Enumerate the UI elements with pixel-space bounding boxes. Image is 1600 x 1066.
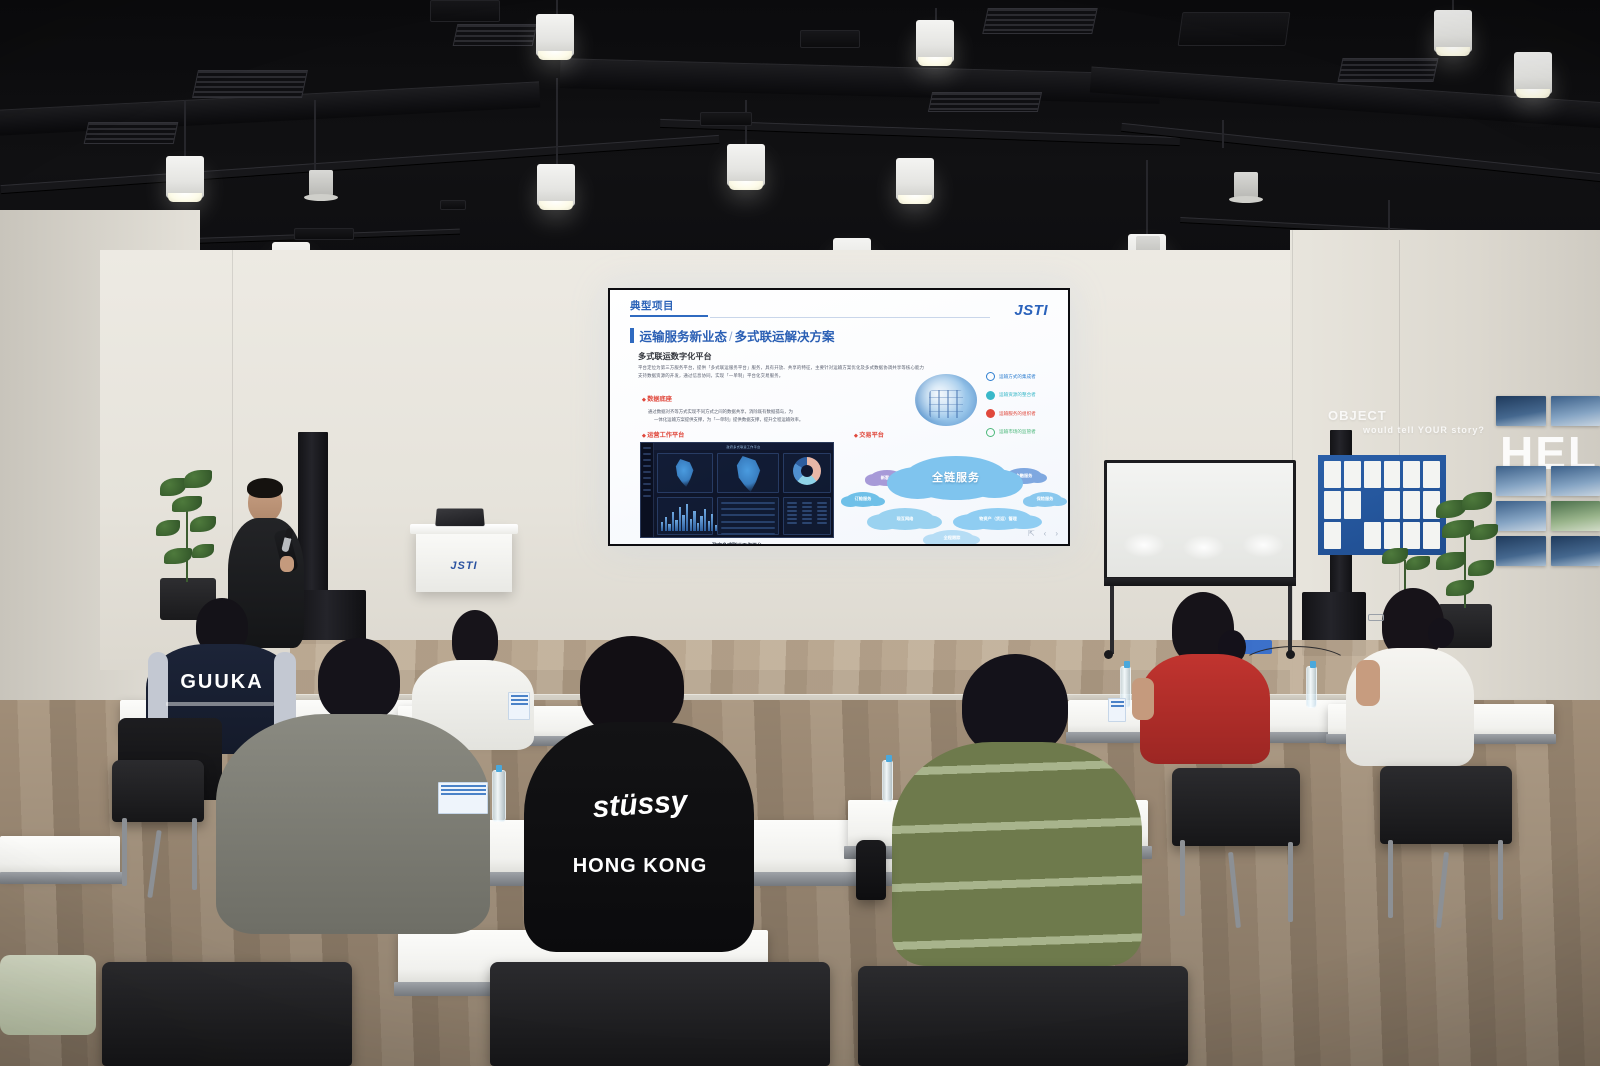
spot-lamp [309, 170, 333, 196]
audience-hair [580, 636, 684, 736]
chair-leg [1180, 840, 1185, 916]
led-presentation-screen[interactable]: 典型项目 JSTI 运输服务新业态/多式联运解决方案 多式联运数字化平台 平台定… [608, 288, 1070, 546]
badge-card [1108, 698, 1126, 722]
slide-navigation[interactable]: ⇱ ‹ › [1028, 529, 1058, 538]
audience-arm [1356, 660, 1380, 706]
chair[interactable] [490, 962, 830, 1066]
role-item: 运输方式的集成者 [986, 372, 1036, 381]
audience-hair [962, 654, 1068, 756]
ceiling-vent [928, 92, 1042, 112]
ceiling-vent [192, 70, 308, 98]
chair-leg [1498, 840, 1503, 920]
hair-bun [1428, 618, 1454, 648]
role-label: 运输资源的整合者 [999, 392, 1036, 398]
board-card [1423, 461, 1440, 488]
cloud-node: 现互网络 [876, 508, 934, 530]
cloud-node: 全程跟踪 [930, 530, 974, 544]
dashboard-title: 政府多式联运工作平台 [726, 445, 760, 449]
ceiling-truss [1121, 123, 1600, 186]
wall-photo [1496, 501, 1546, 531]
role-item: 运输服务的组织者 [986, 409, 1036, 418]
shirt-text-guuka: GUUKA [152, 672, 292, 692]
wall-photo [1551, 396, 1600, 426]
board-card [1384, 522, 1401, 549]
chair[interactable] [112, 760, 204, 822]
wall-photo [1496, 536, 1546, 566]
lamp-rod [556, 78, 558, 170]
slide-title-left: 运输服务新业态 [640, 330, 728, 344]
board-card [1324, 522, 1341, 549]
progress-rows [721, 502, 775, 538]
water-bottle [1306, 666, 1317, 708]
ceiling-speaker [294, 228, 354, 240]
share-icon[interactable]: ⇱ [1028, 529, 1035, 538]
section-heading-data-base: 数据底座 [642, 394, 672, 403]
ceiling-vent [1337, 58, 1438, 82]
chair[interactable] [858, 966, 1188, 1066]
slide-header: 典型项目 JSTI [630, 298, 1054, 318]
whiteboard-surface[interactable] [1107, 463, 1293, 577]
role-label: 运输市场的监管者 [999, 429, 1036, 435]
lamp-rod [1222, 120, 1224, 148]
shirt-subtext [166, 702, 274, 706]
chair-leg [192, 818, 197, 890]
slide: 典型项目 JSTI 运输服务新业态/多式联运解决方案 多式联运数字化平台 平台定… [610, 290, 1068, 544]
badge-card [508, 692, 530, 720]
board-card [1384, 491, 1401, 518]
board-card [1344, 461, 1361, 488]
whiteboard-wheel [1104, 650, 1113, 659]
board-card [1364, 461, 1381, 488]
audience-hair [318, 638, 400, 722]
board-card [1384, 461, 1401, 488]
cloud-node: 物资产（货运）管理 [964, 508, 1032, 530]
title-accent-bar [630, 328, 634, 343]
board-card [1364, 522, 1381, 549]
table-row-2-far-left [0, 836, 120, 876]
paragraph-line-1: 平台定位为第三方服务平台，提供「多式联运服务平台」服务，具有开放、共享的特征，主… [638, 364, 1056, 372]
lamp-rod [314, 100, 316, 170]
audience-torso [524, 722, 754, 952]
wall-photo [1551, 501, 1600, 531]
circle-icon [986, 372, 995, 381]
table-edge [0, 872, 124, 884]
water-bottle [492, 770, 506, 822]
circle-icon [986, 409, 995, 418]
whiteboard[interactable] [1104, 460, 1296, 580]
pendant-lamp [1514, 52, 1552, 94]
audience-torso [216, 714, 490, 934]
chair-leg [1388, 840, 1393, 918]
board-card [1344, 491, 1361, 518]
role-label: 运输服务的组织者 [999, 411, 1036, 417]
photo-gallery [1496, 396, 1600, 564]
pendant-lamp [536, 14, 574, 56]
subwoofer-left [294, 590, 366, 644]
header-rule [710, 317, 990, 318]
wall-photo [1496, 396, 1546, 426]
glasses-icon [1368, 614, 1384, 621]
board-card [1403, 461, 1420, 488]
slide-kicker: 典型项目 [630, 298, 1054, 313]
whiteboard-leg [1288, 586, 1292, 654]
ceiling-speaker [440, 200, 466, 210]
bulletin-board [1318, 455, 1446, 555]
dashboard-caption: 政府多式联运工作平台 [640, 542, 834, 544]
lamp-rod [1146, 160, 1148, 240]
pendant-lamp [896, 158, 934, 200]
next-arrow-icon[interactable]: › [1055, 529, 1058, 538]
dashboard-sidebar [641, 443, 654, 537]
audience-torso [892, 742, 1142, 966]
pendant-lamp [537, 164, 575, 206]
slide-title-row: 运输服务新业态/多式联运解决方案 [630, 326, 835, 345]
conference-room-scene: OBJECT would tell YOUR story? HEL [0, 0, 1600, 1066]
pendant-lamp [727, 144, 765, 186]
audience-torso [1140, 654, 1270, 764]
jsti-logo: JSTI [1014, 302, 1048, 319]
prev-arrow-icon[interactable]: ‹ [1044, 529, 1047, 538]
cloud-node: 保险服务 [1028, 492, 1062, 507]
kicker-underline [630, 315, 708, 317]
wall-photo [1551, 466, 1600, 496]
chair[interactable] [856, 840, 886, 900]
role-list: 运输方式的集成者 运输资源的整合者 运输服务的组织者 运输市场的监管者 [986, 372, 1036, 446]
globe-graphic [915, 374, 977, 426]
slide-title: 运输服务新业态/多式联运解决方案 [640, 326, 835, 345]
ceiling-vent [982, 8, 1098, 34]
slide-title-right: 多式联运解决方案 [735, 330, 835, 344]
role-item: 运输资源的整合者 [986, 391, 1036, 400]
cloud-diagram: 新客户 金融服务 订舱服务 保险服务 全链服务 现互网络 物资产（货运）管理 全… [846, 438, 1062, 544]
pendant-lamp [916, 20, 954, 62]
pendant-lamp [166, 156, 204, 198]
table-grid [787, 502, 827, 524]
chair[interactable] [1380, 766, 1512, 844]
chair-leg [122, 818, 127, 886]
board-card [1403, 491, 1420, 518]
ceiling-vent [84, 122, 179, 144]
whiteboard-marker-tray [1104, 578, 1296, 586]
chair-leg [1288, 842, 1293, 922]
dashboard-screenshot: 政府多式联运工作平台 [640, 442, 834, 538]
dashboard-titlebar: 政府多式联运工作平台 [654, 443, 833, 450]
presenter-hair [247, 478, 283, 498]
podium-logo: JSTI [416, 560, 512, 572]
cloud-node-main: 全链服务 [904, 456, 1008, 500]
water-bottle [882, 760, 893, 802]
audience-arm [1132, 678, 1154, 720]
ceiling-speaker [430, 0, 500, 22]
role-label: 运输方式的集成者 [999, 374, 1036, 380]
board-card [1324, 461, 1341, 488]
wall-text-story: would tell YOUR story? [1363, 425, 1485, 435]
bar-chart [661, 503, 717, 531]
board-card [1423, 522, 1440, 549]
presenter-hand [280, 556, 294, 572]
chair-green[interactable] [0, 955, 96, 1035]
role-item: 运输市场的监管者 [986, 428, 1036, 437]
laptop[interactable] [435, 508, 485, 526]
shirt-text-hongkong: HONG KONG [536, 856, 744, 876]
ceiling-speaker [700, 112, 752, 126]
board-card [1403, 522, 1420, 549]
ceiling-duct [560, 58, 1161, 104]
whiteboard-leg [1110, 586, 1114, 654]
ceiling-speaker [1178, 12, 1291, 46]
ceiling-vent [453, 24, 538, 46]
board-card [1324, 491, 1341, 518]
spot-lamp [1234, 172, 1258, 198]
circle-icon [986, 391, 995, 400]
plant-stem [186, 500, 188, 582]
lamp-rod [184, 100, 186, 158]
badge-card [438, 782, 488, 814]
wall-photo [1551, 536, 1600, 566]
wall-photo [1496, 466, 1546, 496]
section-heading-ops-platform: 运营工作平台 [642, 430, 684, 439]
cloud-node: 订舱服务 [846, 492, 880, 507]
wall-text-object: OBJECT [1328, 408, 1387, 423]
circle-icon [986, 428, 995, 437]
bullet-data-base-2: 一体化运输方案提供支撑，为「一单制」提供数据支撑，提升全程运输效率。 [654, 416, 894, 424]
pendant-lamp [1434, 10, 1472, 52]
slide-title-separator: / [729, 330, 732, 344]
ceiling-speaker [800, 30, 860, 48]
chair[interactable] [1172, 768, 1300, 846]
slide-subtitle: 多式联运数字化平台 [638, 350, 712, 362]
chair[interactable] [102, 962, 352, 1066]
pie-chart [793, 457, 821, 485]
